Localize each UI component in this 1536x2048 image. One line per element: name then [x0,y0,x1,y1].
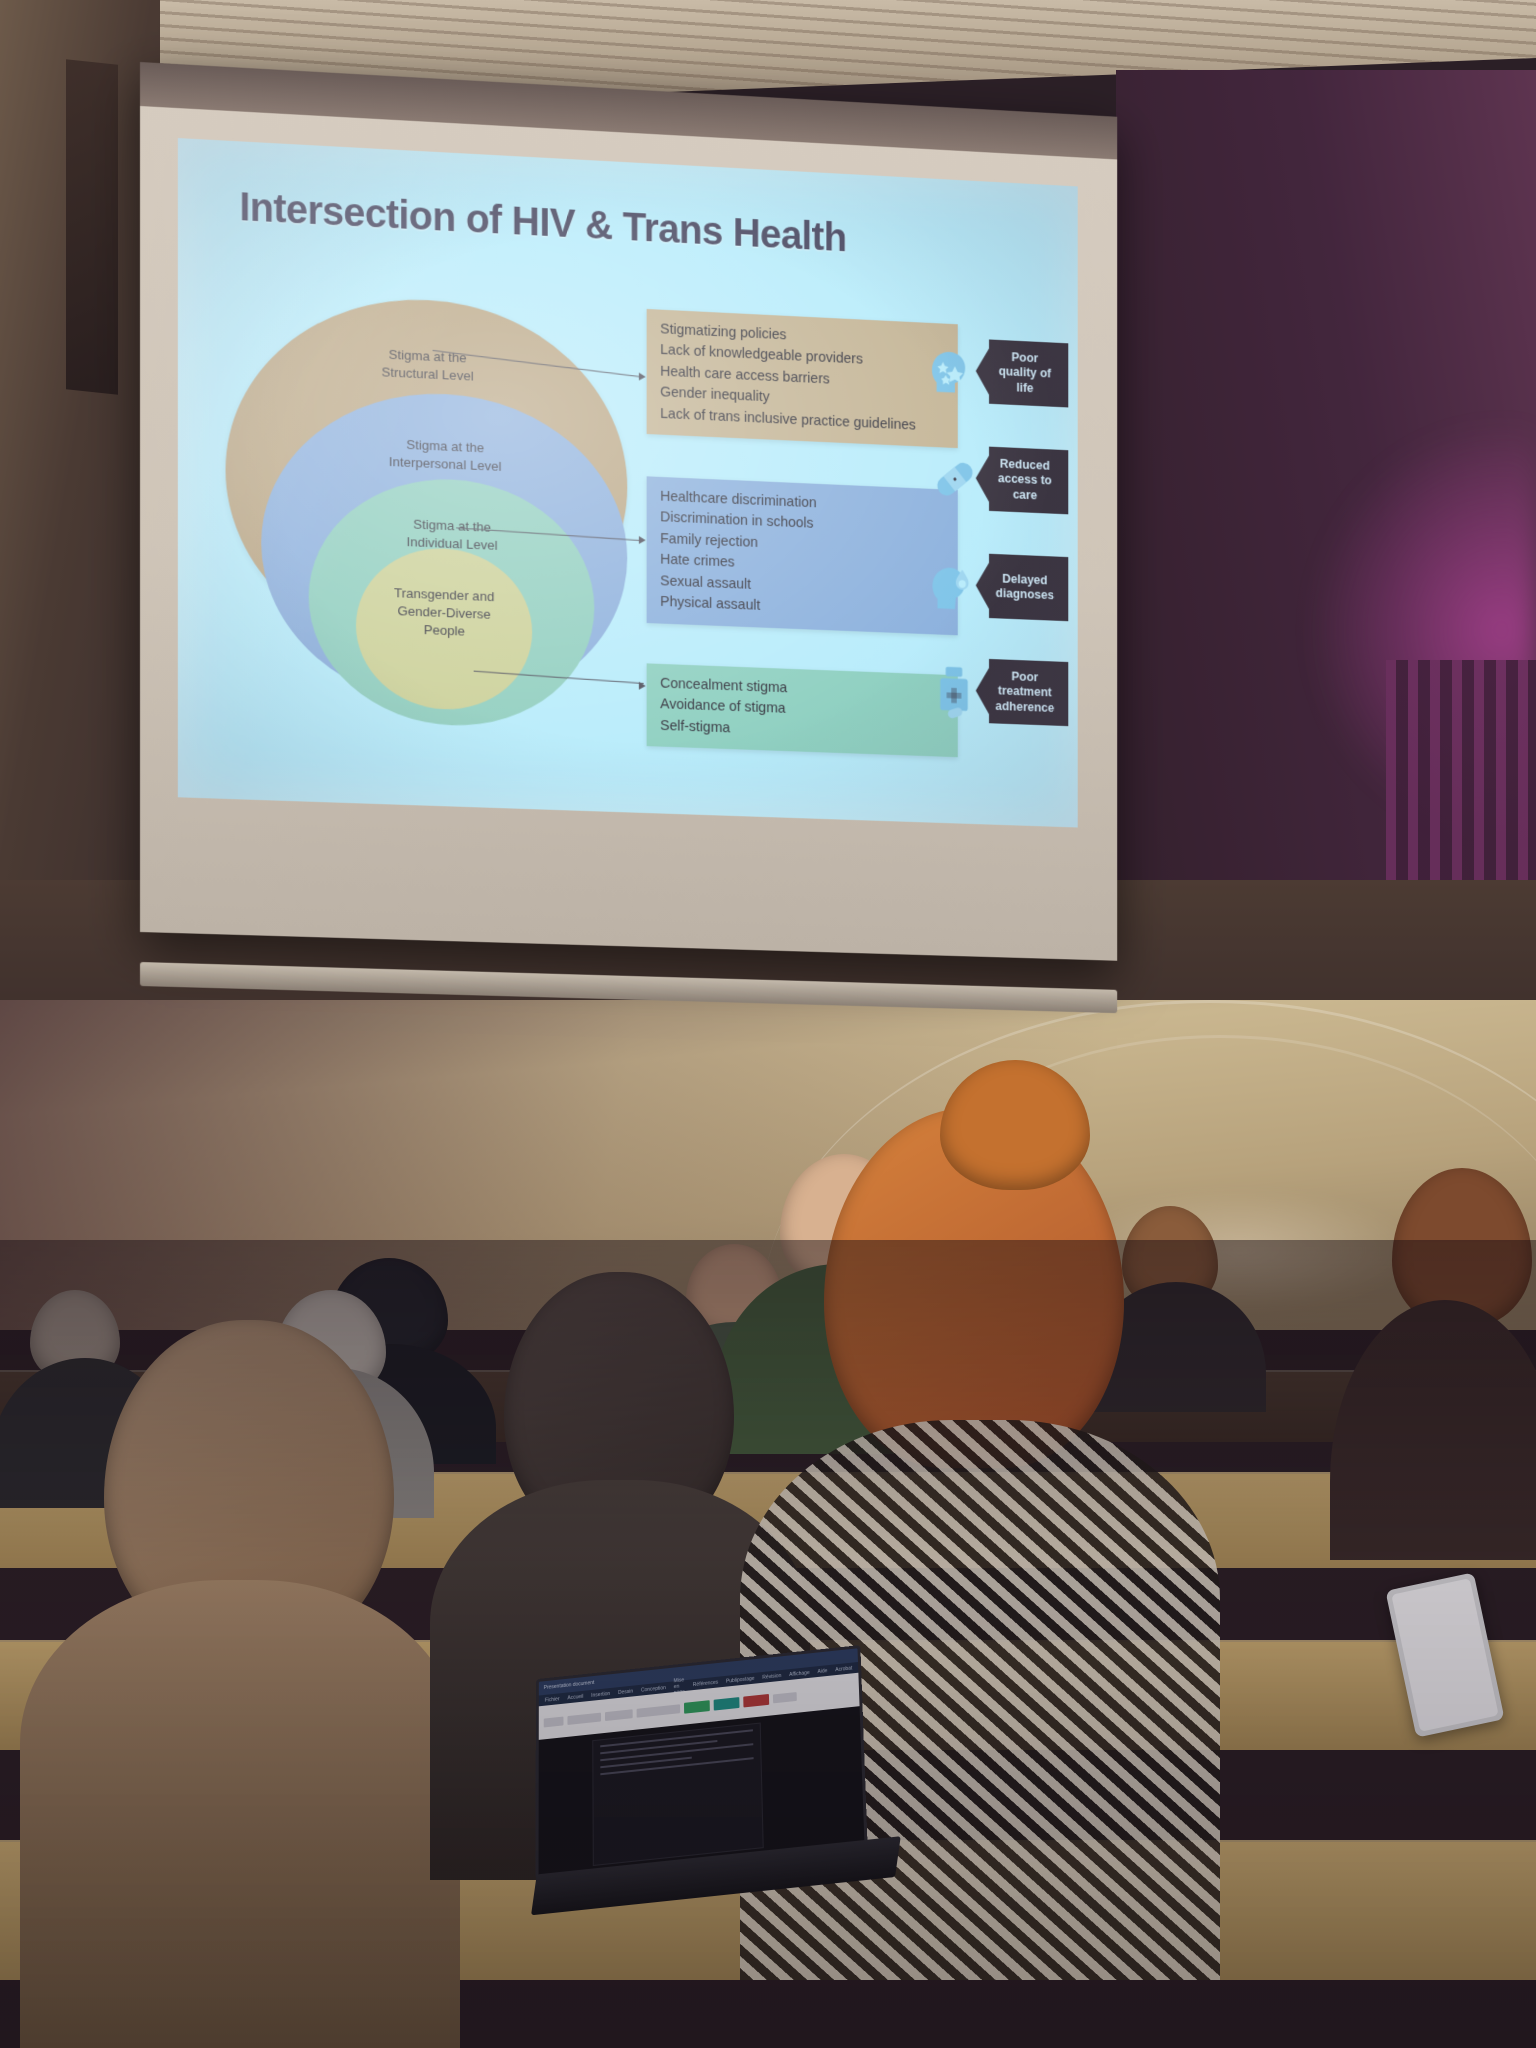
wall-panel [66,59,118,394]
outcome-delayed-diagnoses: Delayed diagnoses [926,551,1068,627]
menu-item[interactable]: Acrobat [835,1665,852,1673]
connector-interpersonal-arrow [639,536,646,544]
ribbon-control[interactable] [544,1716,564,1727]
badge-text: Delayed diagnoses [986,571,1058,604]
box-individual-factors: Concealment stigma Avoidance of stigma S… [647,663,958,757]
circle-structural-label: Stigma at the Structural Level [226,338,628,392]
outcome-line3: life [999,379,1051,396]
menu-item[interactable]: Dessin [618,1688,633,1695]
presentation-slide: Intersection of HIV & Trans Health Stigm… [178,138,1078,827]
outcome-reduced-access-to-care: Reduced access to care [926,444,1068,520]
bandage-icon [926,450,985,511]
menu-item[interactable]: Aide [817,1668,827,1675]
box-interpersonal-factors: Healthcare discrimination Discrimination… [647,476,958,635]
left-wall [0,0,160,1030]
outcome-line2: quality of [999,365,1051,382]
audience-shoulders [1330,1300,1536,1560]
outcome-line2: treatment [995,684,1054,701]
menu-item[interactable]: Conception [641,1685,666,1694]
projection-screen: Intersection of HIV & Trans Health Stigm… [140,62,1117,961]
menu-item[interactable]: Révision [762,1672,781,1680]
connector-structural-arrow [639,373,646,381]
head-droplet-icon [926,557,985,618]
ribbon-control[interactable] [637,1704,681,1717]
audience-area: Presentation document Fichier Accueil In… [0,1240,1536,2048]
outcome-line2: access to [998,472,1052,489]
outcome-line2: diagnoses [996,586,1054,603]
outcome-poor-treatment-adherence: Poor treatment adherence [926,657,1068,732]
attendee-laptop[interactable]: Presentation document Fichier Accueil In… [525,1643,894,1977]
menu-item[interactable]: Fichier [545,1696,560,1703]
circle-people-label: Transgender and Gender-Diverse People [356,583,532,643]
head-stars-icon [926,342,985,403]
outcome-line3: care [998,487,1052,504]
badge-text: Reduced access to care [989,456,1056,503]
ribbon-control[interactable] [567,1712,601,1724]
box-structural-factors: Stigmatizing policies Lack of knowledgea… [647,309,958,448]
lecture-hall-room: Intersection of HIV & Trans Health Stigm… [0,0,1536,2048]
ribbon-control[interactable] [605,1709,633,1721]
menu-item[interactable]: Accueil [567,1693,583,1701]
menu-item[interactable]: Insertion [591,1690,610,1698]
audience-shoulders [20,1580,460,2048]
document-page[interactable] [592,1723,763,1867]
outcome-poor-quality-of-life: Poor quality of life [926,336,1068,413]
ribbon-control[interactable] [773,1692,797,1703]
menu-item[interactable]: Publipostage [726,1675,755,1684]
badge-text: Poor quality of life [989,349,1055,397]
badge-plate: Poor treatment adherence [976,658,1069,726]
ribbon-style-teal[interactable] [714,1697,740,1711]
badge-plate: Delayed diagnoses [976,553,1069,621]
connector-individual-arrow [639,682,646,690]
badge-plate: Poor quality of life [976,339,1069,408]
outcome-line3: adherence [995,699,1054,716]
slide-title: Intersection of HIV & Trans Health [239,185,846,261]
badge-plate: Reduced access to care [976,446,1069,514]
ribbon-style-green[interactable] [684,1700,710,1714]
menu-item[interactable]: Références [693,1679,718,1688]
pill-bottle-icon [926,662,985,723]
menu-item[interactable]: Affichage [789,1670,810,1678]
ribbon-style-red[interactable] [743,1693,769,1707]
badge-text: Poor treatment adherence [986,669,1058,716]
